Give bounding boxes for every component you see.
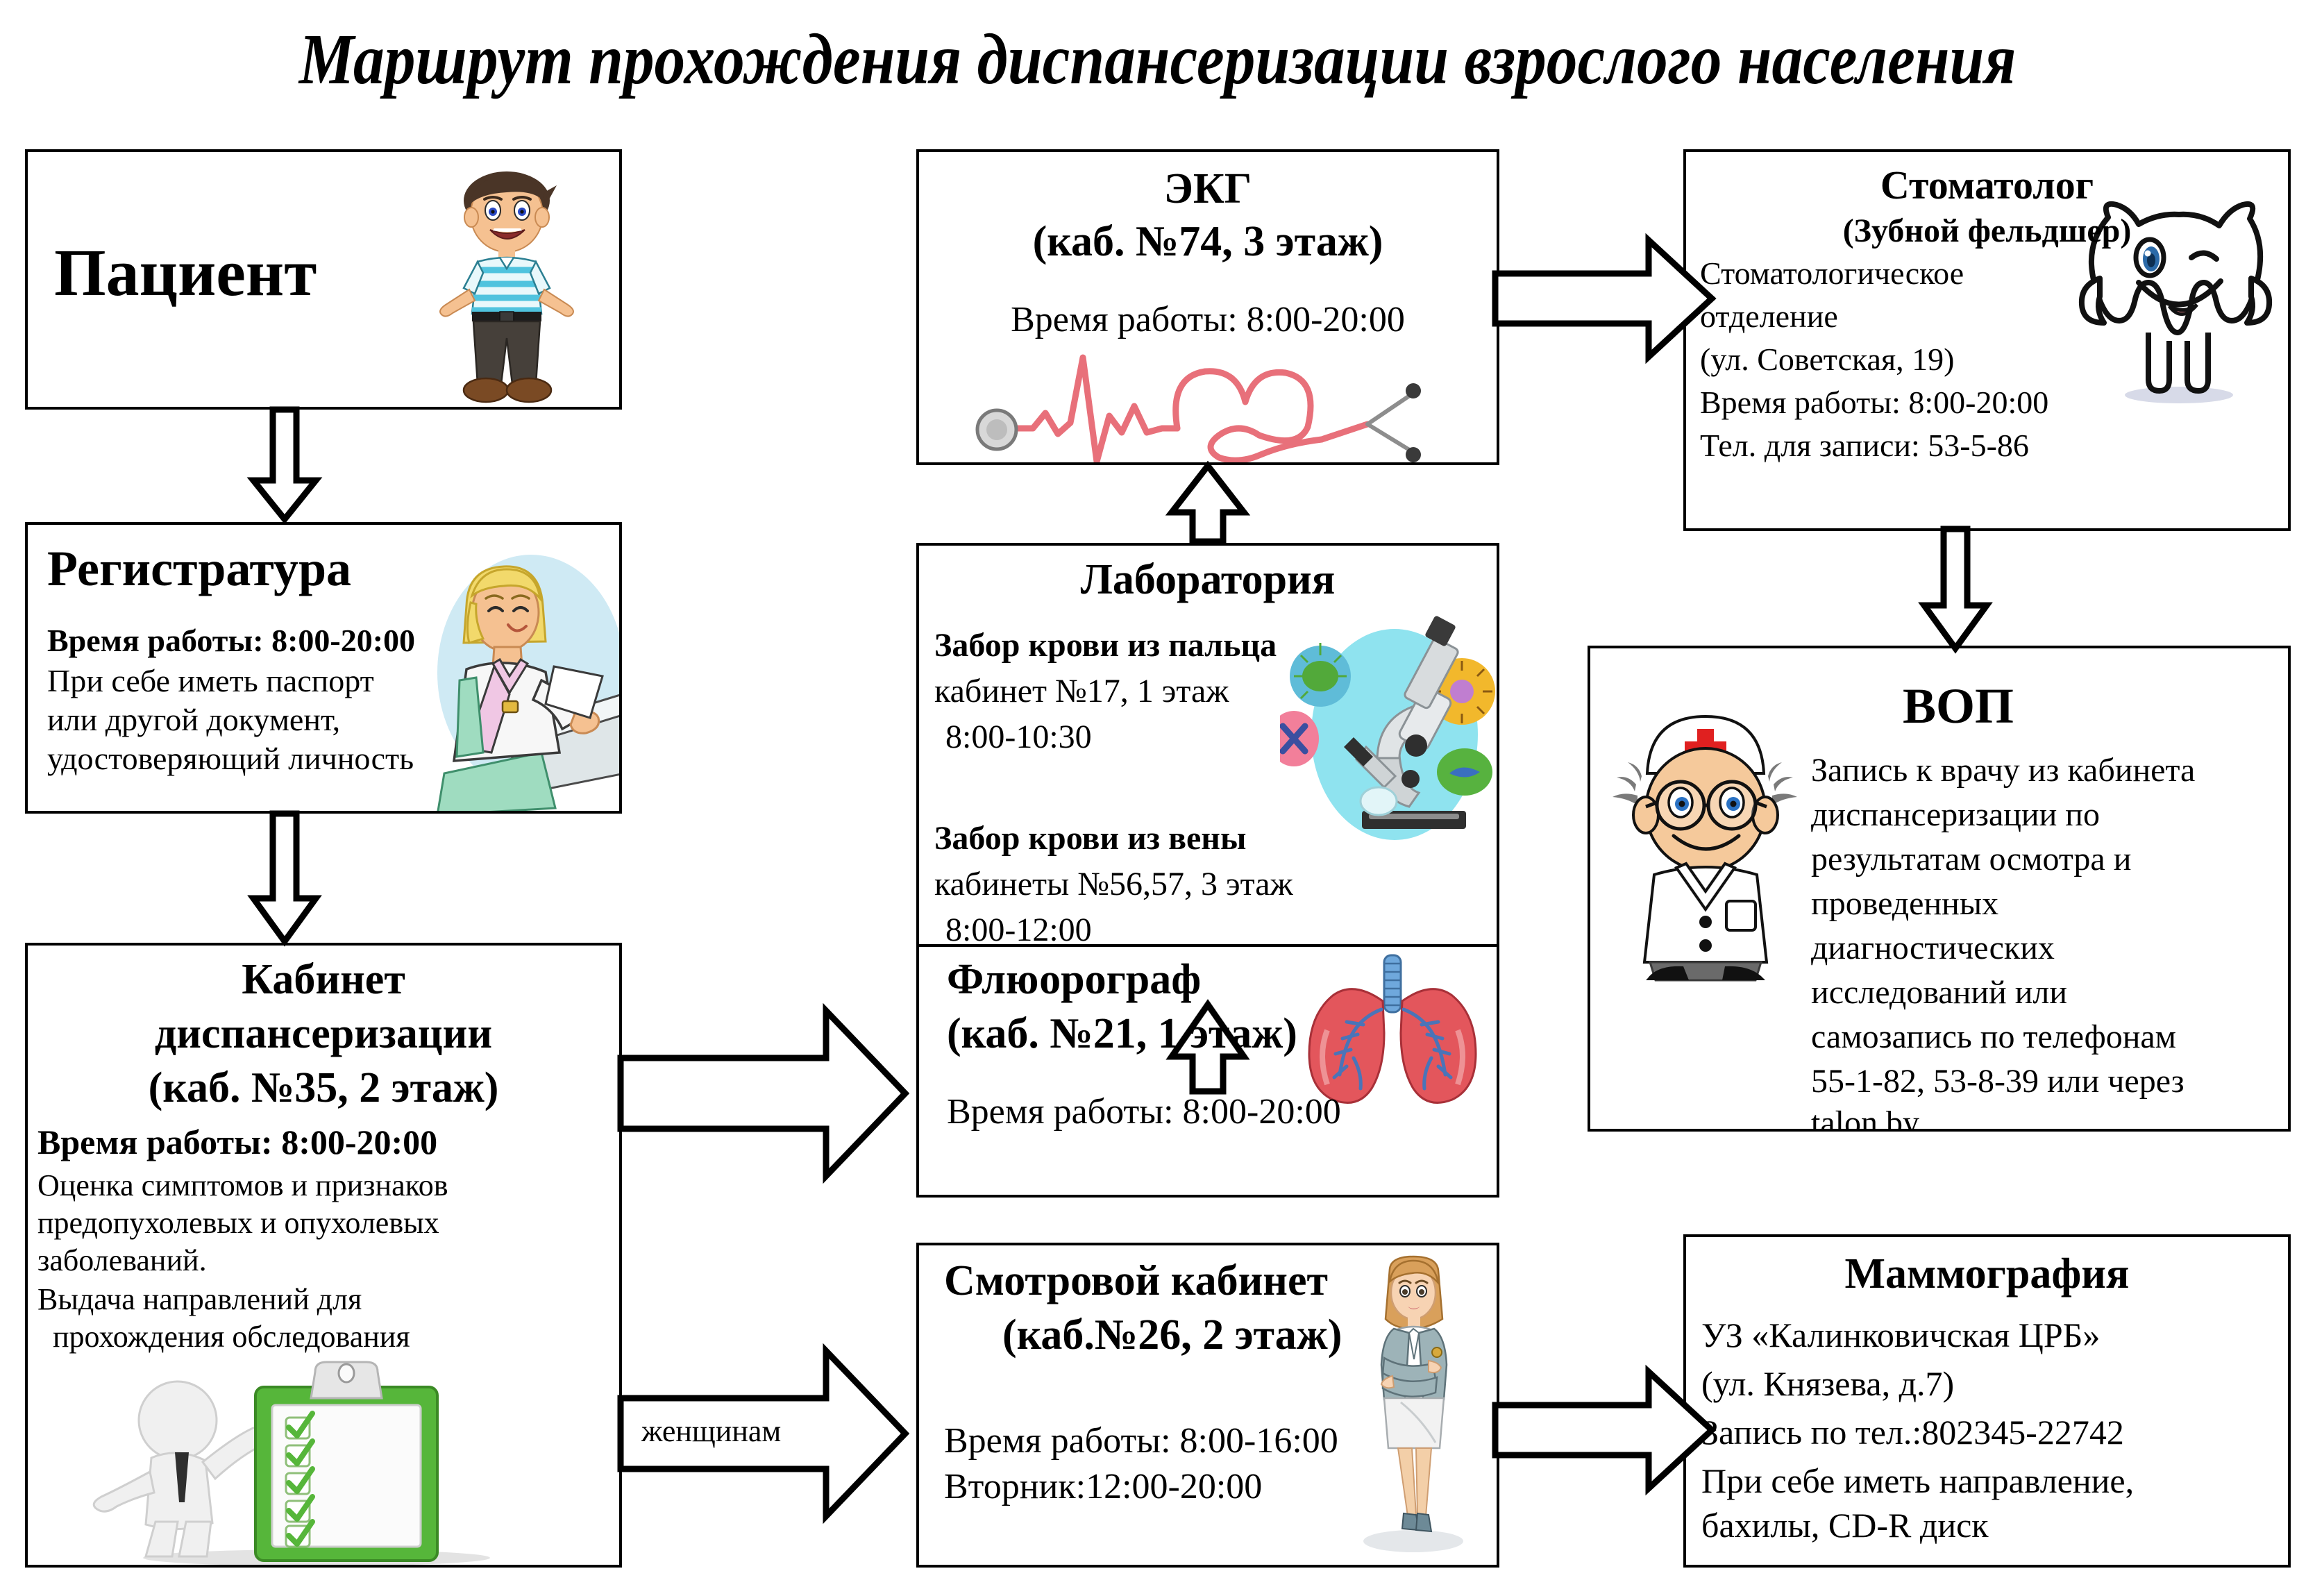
node-registry-line-3: удостоверяющий личность <box>47 740 414 777</box>
node-checkup-room-line-5: прохождения обследования <box>53 1319 410 1354</box>
edge-exam-room-to-mammography <box>1492 1361 1715 1500</box>
node-gp-line-8: 55-1-82, 53-8-39 или через <box>1811 1062 2184 1100</box>
node-laboratory-vein-room: кабинеты №56,57, 3 этаж <box>934 865 1293 903</box>
node-checkup-room-line-4: Выдача направлений для <box>37 1282 362 1317</box>
node-registry-line-1: При себе иметь паспорт <box>47 662 374 699</box>
diagram-canvas: Маршрут прохождения диспансеризации взро… <box>0 0 2315 1596</box>
node-mammography-title: Маммография <box>1686 1250 2288 1299</box>
edge-registry-to-checkup <box>246 812 323 944</box>
standing-man-illustration <box>403 165 611 404</box>
node-checkup-room-title-line-2: диспансеризации <box>28 1009 619 1059</box>
node-laboratory-finger-hours: 8:00-10:30 <box>945 718 1092 756</box>
microscope-illustration <box>1280 601 1495 858</box>
node-patient[interactable]: Пациент <box>25 149 622 410</box>
node-checkup-room-title-line-3: (каб. №35, 2 этаж) <box>28 1064 619 1113</box>
node-fluorograph-hours: Время работы: 8:00-20:00 <box>947 1091 1341 1132</box>
node-dentist-line-2: отделение <box>1700 298 1838 335</box>
node-dentist-subtitle: (Зубной фельдшер) <box>1686 212 2288 250</box>
edge-ecg-to-dentist <box>1492 229 1715 368</box>
edge-patient-to-registry <box>246 408 323 523</box>
node-ecg-subtitle: (каб. №74, 3 этаж) <box>919 217 1497 267</box>
node-checkup-room-title-line-1: Кабинет <box>28 955 619 1005</box>
edge-checkup-to-fluorograph <box>618 1000 909 1187</box>
node-mammography-line-1: УЗ «Калинковичская ЦРБ» <box>1701 1315 2100 1355</box>
node-ecg-title: ЭКГ <box>919 165 1497 214</box>
node-gp-line-4: проведенных <box>1811 884 1998 923</box>
node-fluorograph-title: Флюорограф <box>947 955 1201 1005</box>
node-patient-title: Пациент <box>54 234 317 311</box>
node-gp-line-3: результатам осмотра и <box>1811 840 2131 878</box>
node-mammography[interactable]: Маммография УЗ «Калинковичская ЦРБ» (ул.… <box>1683 1234 2291 1568</box>
node-checkup-room-line-2: предопухолевых и опухолевых <box>37 1205 439 1241</box>
lungs-illustration <box>1299 952 1485 1108</box>
node-exam-room[interactable]: Смотровой кабинет (каб.№26, 2 этаж) Врем… <box>916 1243 1499 1568</box>
node-checkup-room-line-1: Оценка симптомов и признаков <box>37 1168 448 1203</box>
node-gp-line-2: диспансеризации по <box>1811 796 2100 834</box>
node-laboratory-finger-room: кабинет №17, 1 этаж <box>934 672 1229 710</box>
node-dentist-line-3: (ул. Советская, 19) <box>1700 341 1954 378</box>
node-ecg-hours: Время работы: 8:00-20:00 <box>919 299 1497 340</box>
node-checkup-room-hours: Время работы: 8:00-20:00 <box>37 1122 437 1162</box>
node-registry-line-2: или другой документ, <box>47 701 340 738</box>
receptionist-illustration <box>416 544 622 814</box>
node-exam-room-tuesday: Вторник:12:00-20:00 <box>944 1466 1262 1507</box>
node-dentist-line-5: Тел. для записи: 53-5-86 <box>1700 427 2029 464</box>
node-gp-line-1: Запись к врачу из кабинета <box>1811 751 2195 789</box>
node-mammography-line-4: При себе иметь направление, <box>1701 1461 2134 1501</box>
businesswoman-illustration <box>1344 1255 1483 1554</box>
node-laboratory-finger-heading: Забор крови из пальца <box>934 626 1277 664</box>
node-laboratory-title: Лаборатория <box>919 555 1497 605</box>
node-dentist-title: Стоматолог <box>1686 162 2288 208</box>
node-dentist-line-1: Стоматологическое <box>1700 255 1964 292</box>
node-mammography-line-3: Запись по тел.:802345-22742 <box>1701 1412 2124 1452</box>
page-title: Маршрут прохождения диспансеризации взро… <box>162 19 2153 100</box>
node-checkup-room[interactable]: Кабинет диспансеризации (каб. №35, 2 эта… <box>25 943 622 1568</box>
node-fluorograph-subtitle: (каб. №21, 1 этаж) <box>947 1009 1297 1059</box>
edge-label-women: женщинам <box>641 1416 781 1447</box>
node-gp-line-5: диагностических <box>1811 929 2055 967</box>
edge-lab-to-ecg <box>1166 464 1249 544</box>
node-exam-room-subtitle: (каб.№26, 2 этаж) <box>1002 1311 1342 1360</box>
node-checkup-room-line-3: заболеваний. <box>37 1243 207 1278</box>
clipboard-checklist-illustration <box>74 1359 546 1566</box>
ecg-heart-stethoscope-illustration <box>961 346 1460 464</box>
node-gp[interactable]: ВОП Запись к врачу из кабинета диспансер… <box>1588 646 2291 1132</box>
node-ecg[interactable]: ЭКГ (каб. №74, 3 этаж) Время работы: 8:0… <box>916 149 1499 465</box>
node-registry-hours: Время работы: 8:00-20:00 <box>47 622 415 659</box>
node-exam-room-hours: Время работы: 8:00-16:00 <box>944 1420 1338 1461</box>
node-exam-room-title: Смотровой кабинет <box>944 1257 1328 1306</box>
node-registry-title: Регистратура <box>47 540 351 598</box>
node-laboratory-vein-heading: Забор крови из вены <box>934 819 1246 857</box>
node-mammography-line-2: (ул. Князева, д.7) <box>1701 1363 1954 1404</box>
node-registry[interactable]: Регистратура Время работы: 8:00-20:00 Пр… <box>25 522 622 814</box>
node-laboratory[interactable]: Лаборатория Забор крови из пальца кабине… <box>916 543 1499 1005</box>
node-laboratory-vein-hours: 8:00-12:00 <box>945 911 1092 949</box>
node-dentist[interactable]: Стоматолог (Зубной фельдшер) Стоматологи… <box>1683 149 2291 531</box>
node-gp-line-9: talon.by <box>1811 1104 1919 1132</box>
node-mammography-line-5: бахилы, CD-R диск <box>1701 1505 1989 1545</box>
node-gp-line-6: исследований или <box>1811 973 2067 1011</box>
node-gp-title: ВОП <box>1812 678 2104 735</box>
edge-dentist-to-gp <box>1917 528 1994 651</box>
node-dentist-line-4: Время работы: 8:00-20:00 <box>1700 384 2048 421</box>
node-gp-line-7: самозапись по телефонам <box>1811 1018 2176 1056</box>
doctor-illustration <box>1607 693 1805 993</box>
